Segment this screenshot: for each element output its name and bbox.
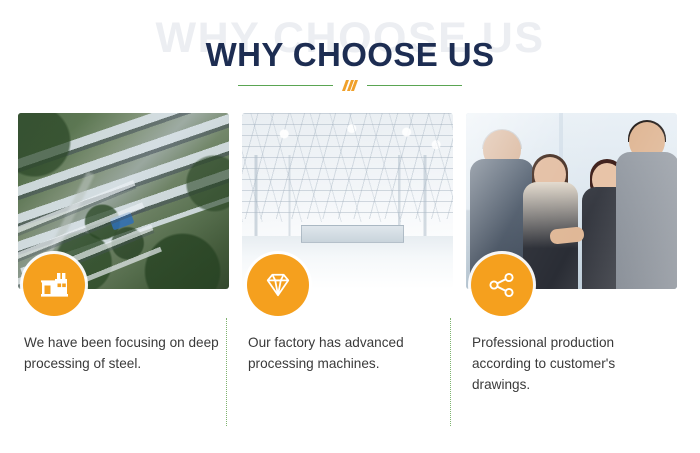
factory-icon-badge[interactable] [23, 254, 85, 316]
feature-card-list: We have been focusing on deep processing… [0, 113, 700, 433]
diamond-icon [263, 271, 293, 299]
person-4 [616, 120, 677, 289]
section-header: WHY CHOOSE US WHY CHOOSE US [0, 0, 700, 105]
interior-ceiling-lamps [242, 124, 453, 170]
why-choose-us-section: WHY CHOOSE US WHY CHOOSE US [0, 0, 700, 453]
title-divider [0, 78, 700, 92]
column-divider-2 [450, 318, 451, 426]
feature-card-caption: Professional production according to cus… [472, 332, 672, 395]
feature-card[interactable]: Professional production according to cus… [466, 113, 677, 433]
share-nodes-icon [487, 271, 517, 299]
page-title: WHY CHOOSE US [0, 36, 700, 74]
feature-card[interactable]: Our factory has advanced processing mach… [242, 113, 453, 433]
feature-card-caption: Our factory has advanced processing mach… [248, 332, 448, 374]
diamond-icon-badge[interactable] [247, 254, 309, 316]
divider-line-right [367, 85, 462, 86]
share-nodes-icon-badge[interactable] [471, 254, 533, 316]
person-2 [523, 148, 578, 289]
column-divider-1 [226, 318, 227, 426]
interior-workbench [301, 225, 404, 243]
factory-icon [39, 271, 69, 299]
aerial-blue-structure [109, 212, 134, 231]
divider-line-left [238, 85, 333, 86]
feature-card[interactable]: We have been focusing on deep processing… [18, 113, 229, 433]
divider-slash-marks [344, 80, 356, 91]
feature-card-caption: We have been focusing on deep processing… [24, 332, 224, 374]
